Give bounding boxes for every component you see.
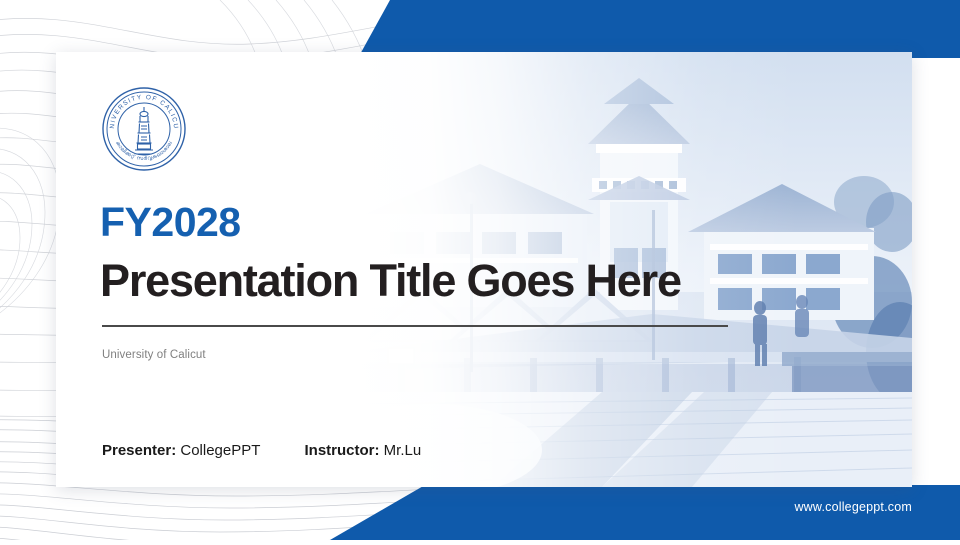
title-block: FY2028 Presentation Title Goes Here Univ…	[100, 202, 800, 361]
page-title: Presentation Title Goes Here	[100, 257, 800, 304]
svg-text:UNIVERSITY OF CALICUT: UNIVERSITY OF CALICUT	[100, 85, 179, 130]
fiscal-year-label: FY2028	[100, 202, 800, 243]
title-divider	[102, 325, 728, 327]
instructor-name: Mr.Lu	[384, 442, 422, 459]
university-logo: UNIVERSITY OF CALICUT കാലിക്കറ്റ് സര്‍വ്…	[100, 85, 188, 173]
credits-line: Presenter: CollegePPT Instructor: Mr.Lu	[102, 442, 421, 459]
slide-card: UNIVERSITY OF CALICUT കാലിക്കറ്റ് സര്‍വ്…	[56, 52, 912, 487]
presenter-name: CollegePPT	[180, 442, 260, 459]
top-blue-banner	[0, 0, 960, 58]
instructor-label: Instructor:	[305, 442, 380, 459]
organization-label: University of Calicut	[102, 349, 800, 361]
presenter-label: Presenter:	[102, 442, 176, 459]
footer-url[interactable]: www.collegeppt.com	[794, 500, 912, 514]
